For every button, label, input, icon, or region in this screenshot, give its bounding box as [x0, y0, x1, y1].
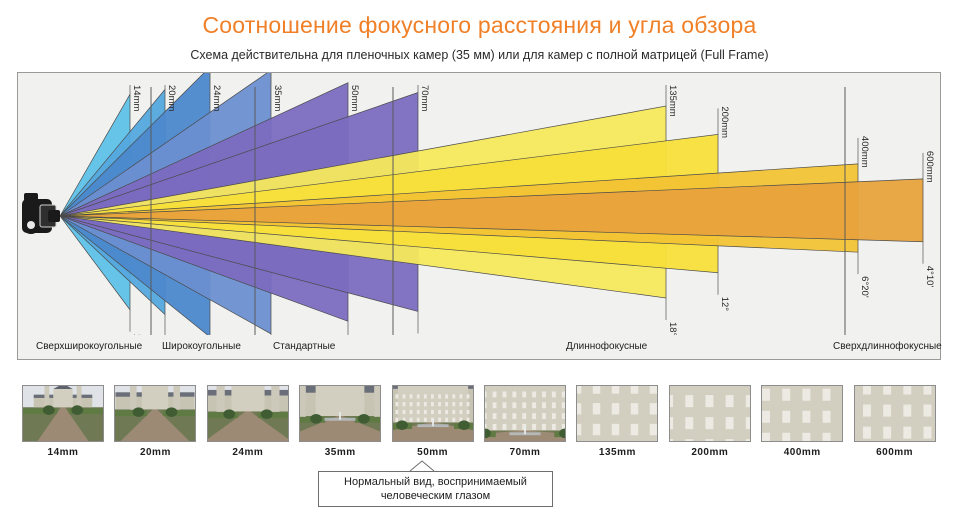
lens-wedge-diagram: 14mm114°20mm94°24mm84°35mm64°50mm45°70mm… — [18, 73, 940, 359]
normal-view-callout: Нормальный вид, воспринимаемый человечес… — [318, 471, 553, 507]
page-subtitle: Схема действительна для пленочных камер … — [0, 48, 959, 62]
sample-photo-label-20mm: 20mm — [114, 447, 196, 458]
page-title: Соотношение фокусного расстояния и угла … — [0, 12, 959, 39]
callout-line-1: Нормальный вид, воспринимаемый — [344, 475, 527, 489]
focal-label-200mm: 200mm — [719, 106, 730, 138]
sample-photo-label-50mm: 50mm — [392, 447, 474, 458]
sample-photo-label-135mm: 135mm — [576, 447, 658, 458]
focal-label-24mm: 24mm — [211, 85, 222, 111]
focal-label-35mm: 35mm — [272, 85, 283, 111]
sample-photo-label-600mm: 600mm — [854, 447, 936, 458]
sample-photo-label-24mm: 24mm — [207, 447, 289, 458]
sample-photo-24mm — [207, 385, 289, 442]
sample-photo-label-400mm: 400mm — [761, 447, 843, 458]
lens-category-label-4: Сверхдлиннофокусные — [833, 341, 942, 352]
focal-label-70mm: 70mm — [419, 85, 430, 111]
angle-label-600mm: 4°10' — [924, 266, 935, 288]
lens-category-label-3: Длиннофокусные — [566, 341, 647, 352]
sample-photo-label-35mm: 35mm — [299, 447, 381, 458]
focal-label-400mm: 400mm — [859, 136, 870, 168]
sample-photo-35mm — [299, 385, 381, 442]
camera-top-view-icon — [22, 193, 60, 234]
focal-label-14mm: 14mm — [131, 85, 142, 111]
focal-label-600mm: 600mm — [924, 151, 935, 183]
sample-photo-600mm — [854, 385, 936, 442]
focal-label-135mm: 135mm — [667, 85, 678, 117]
angle-label-400mm: 6°20' — [859, 276, 870, 298]
angle-label-200mm: 12° — [719, 297, 730, 312]
sample-photo-label-70mm: 70mm — [484, 447, 566, 458]
sample-photo-50mm — [392, 385, 474, 442]
lens-category-label-1: Широкоугольные — [162, 341, 241, 352]
lens-category-bar: СверхширокоугольныеШирокоугольныеСтандар… — [17, 335, 941, 360]
angle-of-view-diagram-panel: 14mm114°20mm94°24mm84°35mm64°50mm45°70mm… — [17, 72, 941, 360]
sample-photo-label-14mm: 14mm — [22, 447, 104, 458]
lens-category-label-2: Стандартные — [273, 341, 335, 352]
sample-photo-400mm — [761, 385, 843, 442]
sample-photo-135mm — [576, 385, 658, 442]
focal-label-50mm: 50mm — [349, 85, 360, 111]
sample-photo-14mm — [22, 385, 104, 442]
focal-label-20mm: 20mm — [166, 85, 177, 111]
callout-line-2: человеческим глазом — [344, 489, 527, 503]
sample-photo-200mm — [669, 385, 751, 442]
sample-photo-strip: 14mm20mm24mm35mm50mm70mm135mm200mm400mm6… — [17, 385, 941, 465]
sample-photo-70mm — [484, 385, 566, 442]
sample-photo-20mm — [114, 385, 196, 442]
sample-photo-label-200mm: 200mm — [669, 447, 751, 458]
lens-category-label-0: Сверхширокоугольные — [36, 341, 142, 352]
